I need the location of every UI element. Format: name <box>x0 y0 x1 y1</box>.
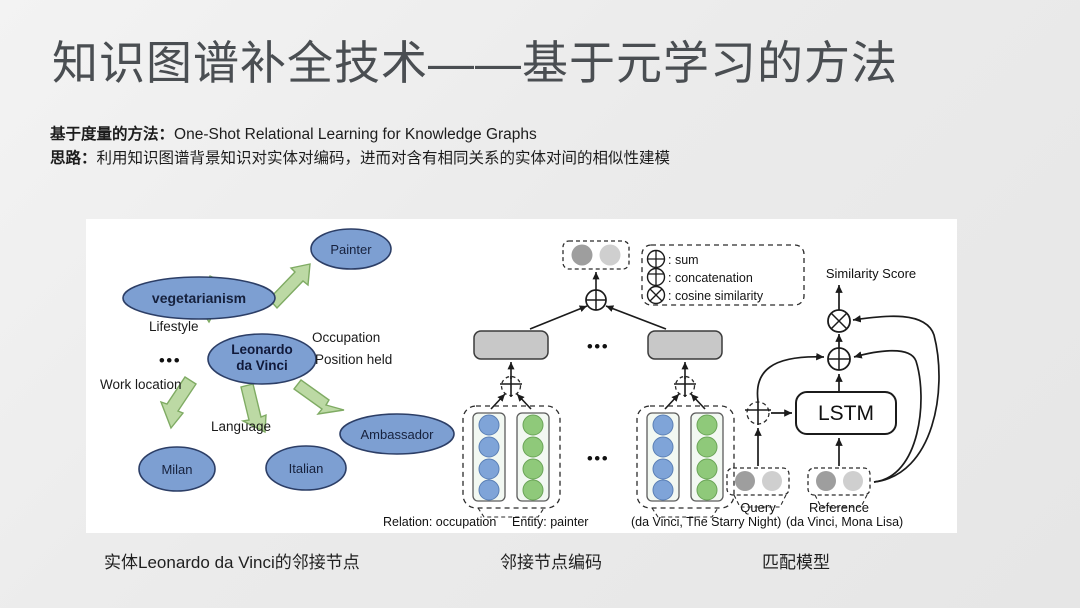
graph-node-ambassador[interactable]: Ambassador <box>340 414 454 454</box>
graph-arrow-position-held <box>294 380 344 414</box>
pair-circle-dark-icon <box>572 245 593 266</box>
figure-panel: Painter vegetarianism Ambassador Milan I <box>86 219 957 533</box>
graph-node-milan-label: Milan <box>161 462 192 477</box>
graph-ellipsis: ••• <box>159 351 181 370</box>
graph-node-italian-label: Italian <box>289 461 324 476</box>
bullet-idea: 思路：利用知识图谱背景知识对实体对编码，进而对含有相同关系的实体对间的相似性建模 <box>50 146 670 168</box>
graph-node-ambassador-label: Ambassador <box>361 427 435 442</box>
pair-circle-light-icon <box>600 245 621 266</box>
graph-edge-label-position-held: Position held <box>315 352 392 367</box>
legend-sum-icon <box>648 251 665 268</box>
graph-node-center-label-line1: Leonardo <box>231 342 293 357</box>
graph-node-painter-label: Painter <box>330 242 372 257</box>
encoder-hidden-box-left <box>474 331 548 359</box>
encoder-vec-arrow-3 <box>665 394 679 409</box>
legend-sum-label: : sum <box>668 253 699 267</box>
bullet-label-1: 基于度量的方法： <box>50 126 174 143</box>
caption-right: 匹配模型 <box>762 548 830 573</box>
matching-reference-pair <box>808 468 870 495</box>
matching-cosine-operator-icon <box>828 310 850 332</box>
bullet-value-2: 利用知识图谱背景知识对实体对编码，进而对含有相同关系的实体对间的相似性建模 <box>97 150 671 167</box>
encoder-ellipsis-top: ••• <box>587 337 609 356</box>
query-circle-dark-icon <box>735 471 755 491</box>
encoder-link-left <box>530 306 587 329</box>
reference-circle-light-icon <box>843 471 863 491</box>
legend-concat-label: : concatenation <box>668 271 753 285</box>
encoder-concat-operator-right-icon <box>674 362 696 397</box>
graph-edge-label-work-location: Work location <box>100 377 182 392</box>
encoder-legend: : sum : concatenation : cosine similarit… <box>642 245 804 305</box>
encoder-label-entity: Entity: painter <box>512 515 588 529</box>
matching-lstm-label: LSTM <box>818 402 874 425</box>
graph-edge-label-occupation: Occupation <box>312 330 380 345</box>
right-matching-group: Similarity Score LSTM <box>727 266 939 529</box>
matching-concat-operator-icon <box>745 401 771 425</box>
graph-node-center[interactable]: Leonardo da Vinci <box>208 334 316 384</box>
encoder-vector-group-left <box>463 406 560 508</box>
graph-arrow-occupation <box>269 264 310 308</box>
encoder-vec-arrow-1 <box>491 394 505 409</box>
encoder-vec-arrow-2 <box>517 394 531 409</box>
encoder-concat-operator-left-icon <box>500 362 522 397</box>
encoder-vec-arrow-4 <box>691 394 705 409</box>
graph-node-vegetarianism-label: vegetarianism <box>152 290 246 306</box>
graph-node-milan[interactable]: Milan <box>139 447 215 491</box>
graph-node-center-label-line2: da Vinci <box>236 358 288 373</box>
left-graph-group: Painter vegetarianism Ambassador Milan I <box>100 229 454 491</box>
matching-sum-operator-icon <box>828 348 850 370</box>
query-circle-light-icon <box>762 471 782 491</box>
graph-node-italian[interactable]: Italian <box>266 446 346 490</box>
bullet-value-1: One-Shot Relational Learning for Knowled… <box>174 126 537 143</box>
caption-left: 实体Leonardo da Vinci的邻接节点 <box>104 548 360 573</box>
page-title: 知识图谱补全技术——基于元学习的方法 <box>52 32 898 94</box>
bullet-label-2: 思路： <box>50 150 97 167</box>
matching-query-pair <box>727 468 789 495</box>
graph-edge-label-language: Language <box>211 419 271 434</box>
legend-cosine-label: : cosine similarity <box>668 289 764 303</box>
encoder-label-pair: (da Vinci, The Starry Night) <box>631 515 781 529</box>
bullet-metric-method: 基于度量的方法：One-Shot Relational Learning for… <box>50 122 537 144</box>
matching-output-label: Similarity Score <box>826 266 916 281</box>
encoder-ellipsis-bottom: ••• <box>587 449 609 468</box>
encoder-link-right <box>606 306 666 329</box>
reference-circle-dark-icon <box>816 471 836 491</box>
caption-middle: 邻接节点编码 <box>500 548 602 573</box>
encoder-hidden-box-right <box>648 331 722 359</box>
slide: 知识图谱补全技术——基于元学习的方法 基于度量的方法：One-Shot Rela… <box>0 0 1080 608</box>
graph-node-painter[interactable]: Painter <box>311 229 391 269</box>
encoder-output-pair <box>563 241 629 269</box>
graph-node-vegetarianism[interactable]: vegetarianism <box>123 277 275 319</box>
encoder-label-relation: Relation: occupation <box>383 515 496 529</box>
matching-pair-label: (da Vinci, Mona Lisa) <box>786 515 903 529</box>
graph-edge-label-lifestyle: Lifestyle <box>149 319 199 334</box>
encoder-vector-group-right <box>637 406 734 508</box>
figure-svg: Painter vegetarianism Ambassador Milan I <box>86 219 957 533</box>
encoder-sum-operator-icon <box>586 272 606 310</box>
